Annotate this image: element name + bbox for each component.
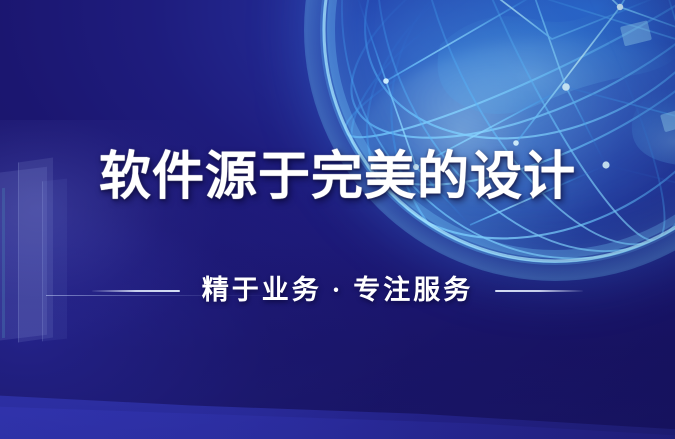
background-vignette [0,0,675,439]
hero-banner: 软件源于完美的设计 精于业务 · 专注服务 [0,0,675,439]
rule-left [92,290,180,292]
subtitle-row: 精于业务 · 专注服务 [0,277,675,304]
page-subtitle: 精于业务 · 专注服务 [202,277,474,304]
page-title: 软件源于完美的设计 [0,152,675,204]
rule-right [495,290,583,292]
